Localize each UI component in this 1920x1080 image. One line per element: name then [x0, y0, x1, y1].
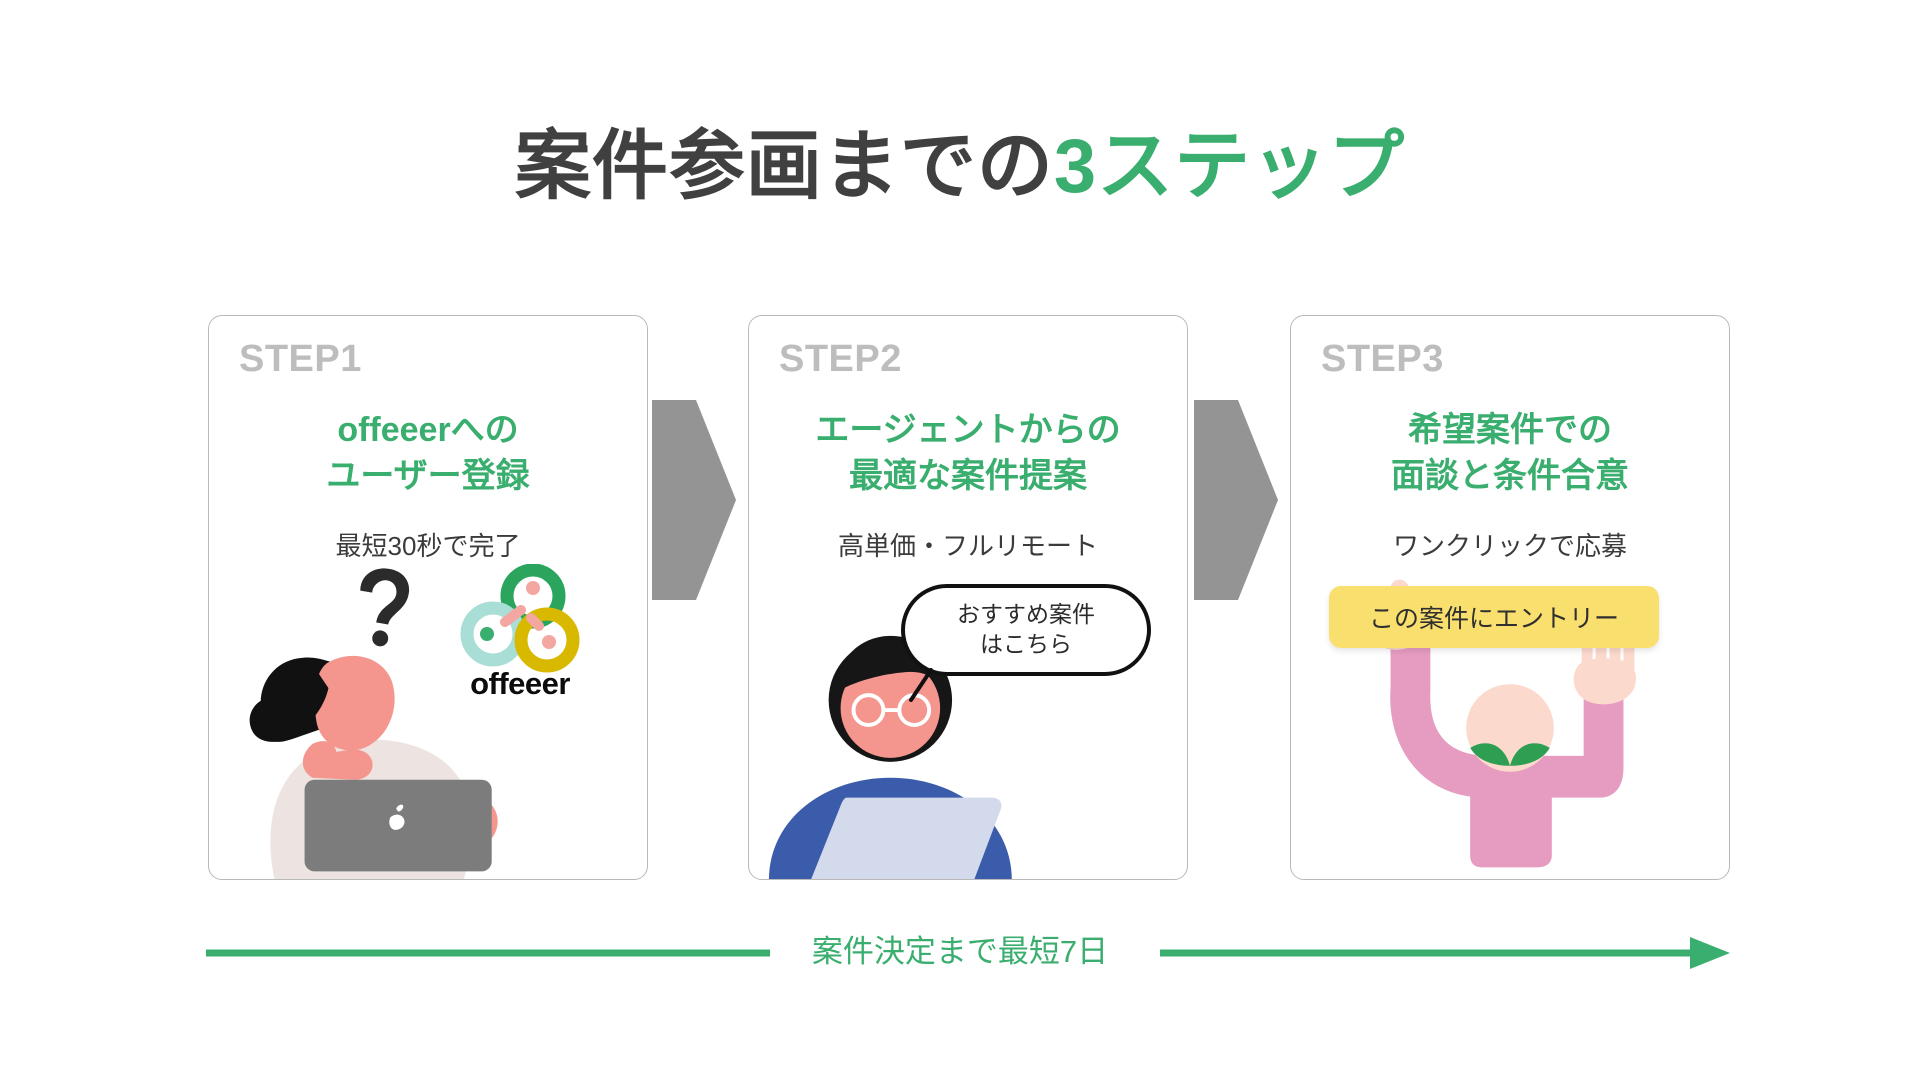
page-title-plain: 案件参画までの — [515, 124, 1054, 209]
offeeer-logo — [445, 564, 595, 676]
speech-bubble-tail — [905, 668, 935, 702]
step-subtitle-2: 高単価・フルリモート — [749, 526, 1187, 563]
step-heading-1: offeeerへの ユーザー登録 — [209, 408, 647, 499]
step-heading-2-line1: エージェントからの — [749, 408, 1187, 454]
page-title: 案件参画までの3ステップ — [0, 104, 1920, 214]
step-subtitle-1: 最短30秒で完了 — [209, 526, 647, 563]
timeline-arrow: 案件決定まで最短7日 — [0, 930, 1920, 1000]
step-label-2: STEP2 — [779, 338, 902, 381]
step-heading-3: 希望案件での 面談と条件合意 — [1291, 408, 1729, 499]
speech-bubble: おすすめ案件 はこちら — [901, 584, 1151, 676]
step-heading-3-line1: 希望案件での — [1291, 408, 1729, 454]
entry-button[interactable]: この案件にエントリー — [1329, 586, 1659, 648]
steps-row: STEP1 offeeerへの ユーザー登録 最短30秒で完了 — [0, 315, 1920, 880]
timeline-arrow-label: 案件決定まで最短7日 — [0, 930, 1920, 974]
speech-bubble-text: おすすめ案件 はこちら — [957, 600, 1095, 660]
page-title-accent: 3ステップ — [1054, 124, 1405, 209]
separator-chevron-1 — [652, 400, 736, 600]
offeeer-wordmark: offeeer — [435, 666, 605, 702]
step-heading-1-line1: offeeerへの — [209, 408, 647, 454]
step-card-2[interactable]: STEP2 エージェントからの 最適な案件提案 高単価・フルリモート おすすめ案… — [748, 315, 1188, 880]
question-mark-icon — [360, 568, 409, 646]
step-card-1[interactable]: STEP1 offeeerへの ユーザー登録 最短30秒で完了 — [208, 315, 648, 880]
step-heading-2-line2: 最適な案件提案 — [749, 454, 1187, 500]
step-label-1: STEP1 — [239, 338, 362, 381]
step-label-3: STEP3 — [1321, 338, 1444, 381]
step-heading-1-line2: ユーザー登録 — [209, 454, 647, 500]
laptop-icon — [811, 798, 1002, 880]
step-heading-2: エージェントからの 最適な案件提案 — [749, 408, 1187, 499]
separator-chevron-2 — [1194, 400, 1278, 600]
step-heading-3-line2: 面談と条件合意 — [1291, 454, 1729, 500]
entry-button-label: この案件にエントリー — [1369, 599, 1619, 635]
step-subtitle-3: ワンクリックで応募 — [1291, 526, 1729, 563]
step-card-3[interactable]: STEP3 希望案件での 面談と条件合意 ワンクリックで応募 この案件にエントリ… — [1290, 315, 1730, 880]
slide-root: 案件参画までの3ステップ STEP1 offeeerへの ユーザー登録 最短30… — [0, 0, 1920, 1080]
